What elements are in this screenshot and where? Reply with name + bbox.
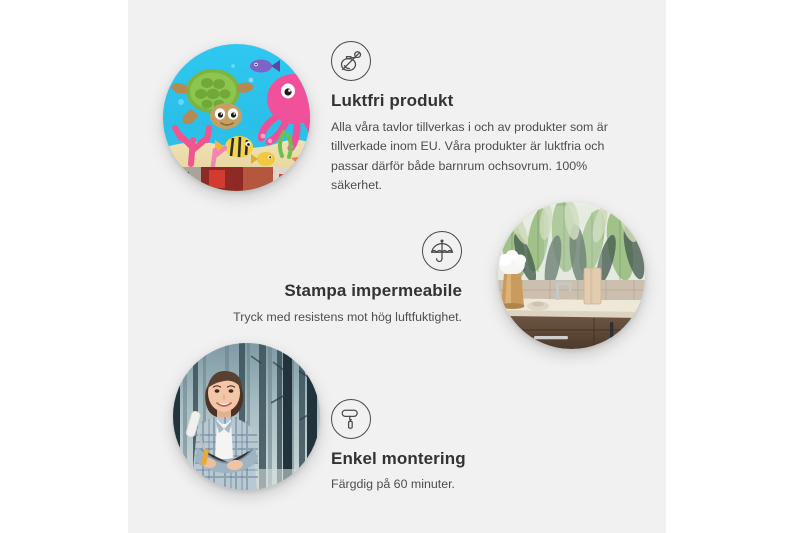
feature-body: Tryck med resistens mot hög luftfuktighe… <box>180 308 462 327</box>
feature-title: Stampa impermeabile <box>180 280 462 301</box>
feature-waterproof: Stampa impermeabile Tryck med resistens … <box>180 231 462 327</box>
feature-title: Luktfri produkt <box>331 90 631 111</box>
woman-paint-roller-forest-photo <box>173 343 320 490</box>
feature-body: Färgdig på 60 minuter. <box>331 475 611 494</box>
promo-graphic: Luktfri produkt Alla våra tavlor tillver… <box>0 0 800 533</box>
umbrella-icon <box>422 231 462 271</box>
bathroom-tropical-wallpaper-photo <box>498 202 645 349</box>
feature-odourless: Luktfri produkt Alla våra tavlor tillver… <box>331 41 631 195</box>
feature-title: Enkel montering <box>331 448 611 469</box>
paint-roller-icon <box>331 399 371 439</box>
feature-body: Alla våra tavlor tillverkas i och av pro… <box>331 118 613 195</box>
no-fragrance-icon <box>331 41 371 81</box>
underwater-cartoon-mural-photo <box>163 44 310 191</box>
feature-assembly: Enkel montering Färgdig på 60 minuter. <box>331 399 611 494</box>
